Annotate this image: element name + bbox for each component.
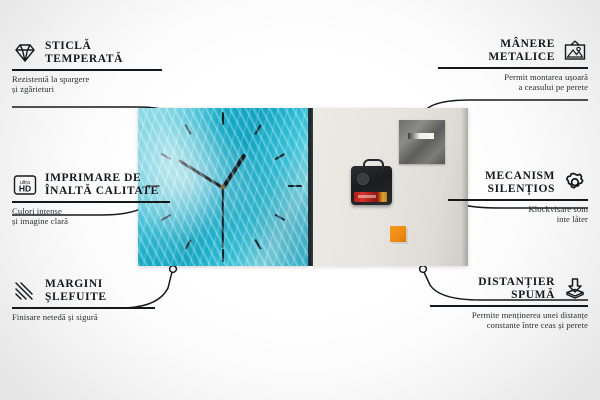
- callout-rule: [430, 305, 588, 307]
- callout-sub-1: Permit montarea ușoară: [438, 72, 588, 83]
- callout-sub-1: Rezistentă la spargere: [12, 74, 162, 85]
- callout-title-2: ȘLEFUITE: [45, 291, 107, 304]
- clock-hub: [221, 185, 226, 190]
- framed-picture-icon: [562, 39, 588, 63]
- callout-title-2: METALICE: [488, 51, 555, 64]
- callout-title: IMPRIMARE DE: [45, 172, 159, 185]
- hour-hand: [221, 153, 246, 189]
- hour-tick: [275, 153, 285, 160]
- minute-hand: [178, 159, 224, 189]
- mechanism-dial: [357, 173, 369, 185]
- callout-title-2: ÎNALTĂ CALITATE: [45, 185, 159, 198]
- callout-sub-1: Culori intense: [12, 206, 170, 217]
- callout-sub-2: constante între ceas și perete: [430, 320, 588, 331]
- hour-tick: [288, 185, 302, 187]
- hour-tick: [254, 239, 261, 249]
- callout-title-2: SILENȚIOS: [485, 183, 555, 196]
- ultra-hd-icon: ultra HD: [12, 173, 38, 197]
- diamond-icon: [12, 41, 38, 65]
- callout-rule: [12, 307, 155, 309]
- callout-sub-2: inte låter: [448, 214, 588, 225]
- callout-rule: [448, 199, 588, 201]
- callout-polished-edges: MARGINI ȘLEFUITE Finisare netedă și sigu…: [12, 278, 155, 322]
- callout-foam-spacer: DISTANȚIER SPUMĂ Permite menținerea unei…: [430, 276, 588, 331]
- callout-title: MÂNERE: [488, 38, 555, 51]
- connector-dot-foam-spacer: [420, 266, 427, 273]
- callout-silent-mechanism: MECANISM SILENȚIOS Klockvisare som inte …: [448, 170, 588, 225]
- clock-mechanism-box: [351, 166, 392, 205]
- infographic-canvas: STICLĂ TEMPERATĂ Rezistentă la spargere …: [0, 0, 600, 400]
- callout-sub-1: Klockvisare som: [448, 204, 588, 215]
- mechanism-loop: [363, 159, 384, 170]
- hour-tick: [222, 249, 224, 262]
- hour-tick: [222, 112, 224, 125]
- callout-rule: [12, 69, 162, 71]
- battery: [354, 192, 387, 202]
- hour-tick: [161, 153, 171, 160]
- connector-dot-polished-edges: [170, 266, 177, 273]
- svg-text:HD: HD: [19, 184, 31, 194]
- callout-title-2: TEMPERATĂ: [45, 53, 123, 66]
- callout-sub-2: și zgârieturi: [12, 84, 162, 95]
- metal-hanger-plate: [399, 120, 445, 164]
- callout-title-2: SPUMĂ: [478, 289, 555, 302]
- callout-sub-1: Finisare netedă și sigură: [12, 312, 155, 323]
- foam-spacer-pad: [390, 226, 406, 242]
- callout-title: MARGINI: [45, 278, 107, 291]
- arrow-down-pad-icon: [562, 277, 588, 301]
- callout-title: DISTANȚIER: [478, 276, 555, 289]
- callout-sub-2: a ceasului pe perete: [438, 82, 588, 93]
- callout-sub-2: și imagine clară: [12, 216, 170, 227]
- product-image: [138, 108, 468, 266]
- hour-tick: [275, 214, 285, 221]
- callout-rule: [12, 201, 170, 203]
- callout-sub-1: Permite menținerea unei distanțe: [430, 310, 588, 321]
- hatched-edges-icon: [12, 279, 38, 303]
- hour-tick: [254, 124, 261, 134]
- gear-icon: [562, 171, 588, 195]
- callout-title: STICLĂ: [45, 40, 123, 53]
- callout-title: MECANISM: [485, 170, 555, 183]
- hour-tick: [184, 239, 191, 249]
- callout-rule: [438, 67, 588, 69]
- second-hand: [222, 188, 224, 248]
- hour-tick: [184, 124, 191, 134]
- clock-back-panel: [313, 108, 468, 266]
- callout-high-quality-print: ultra HD IMPRIMARE DE ÎNALTĂ CALITATE Cu…: [12, 172, 170, 227]
- callout-metal-hangers: MÂNERE METALICE Permit montarea ușoară a…: [438, 38, 588, 93]
- callout-tempered-glass: STICLĂ TEMPERATĂ Rezistentă la spargere …: [12, 40, 162, 95]
- hanger-slot: [408, 133, 434, 139]
